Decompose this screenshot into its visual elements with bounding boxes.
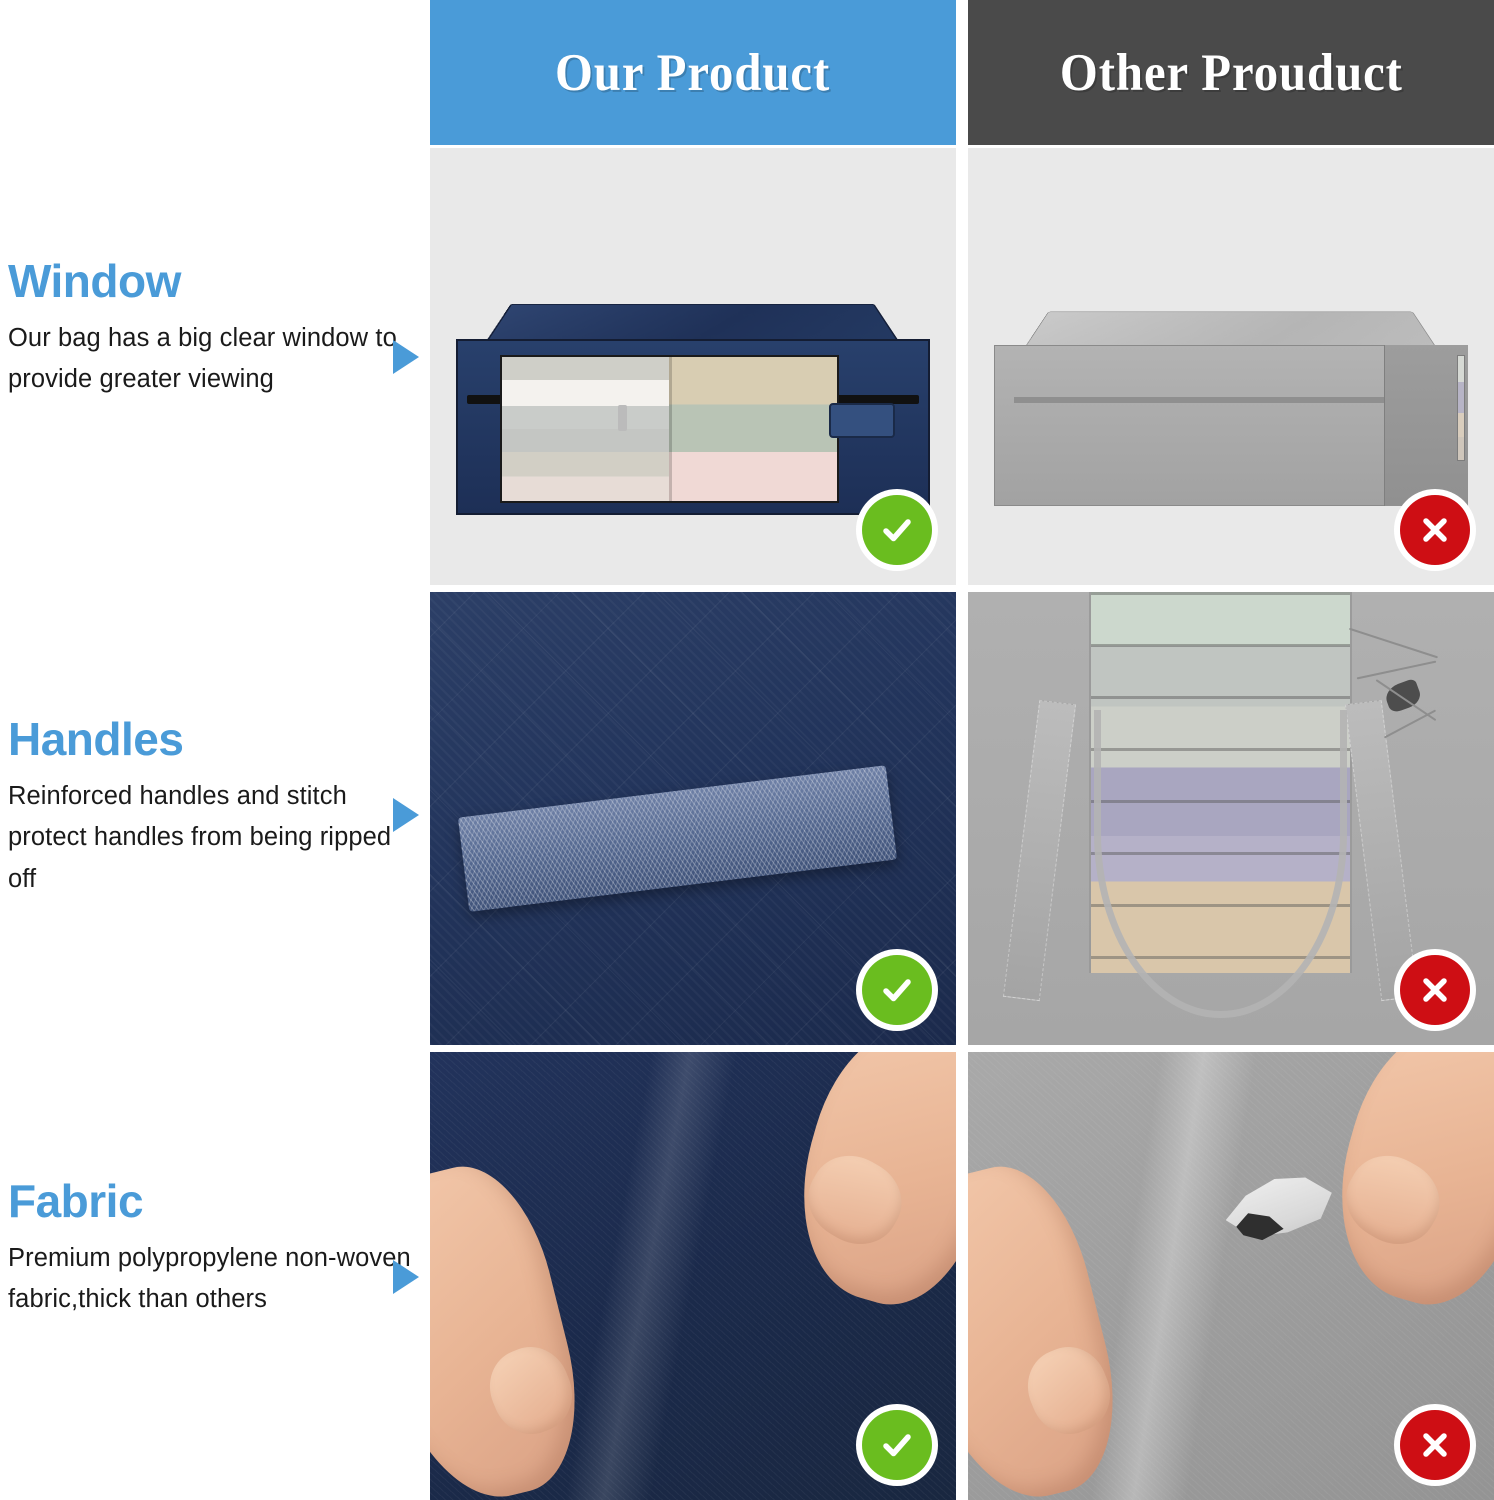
comparison-infographic: Window Our bag has a big clear window to… [0,0,1494,1500]
comparison-row-handles [430,592,1494,1045]
status-badge-check [856,949,938,1031]
triangle-right-icon [393,1260,419,1294]
our-product-fabric-photo [430,1052,956,1500]
feature-description-window: Our bag has a big clear window to provid… [8,318,426,401]
status-badge-cross [1394,489,1476,571]
fabric-tear [1226,1173,1336,1249]
feature-block-fabric: Fabric Premium polypropylene non-woven f… [8,1178,426,1321]
feature-title-fabric: Fabric [8,1178,426,1224]
hand-right [774,1052,956,1322]
triangle-right-icon [393,340,419,374]
feature-description-fabric: Premium polypropylene non-woven fabric,t… [8,1238,426,1321]
header-our-product: Our Product [430,0,956,145]
our-product-window-photo [430,148,956,585]
header-other-product: Other Prouduct [968,0,1494,145]
column-headers: Our Product Other Prouduct [430,0,1494,145]
hand-right [1312,1052,1494,1322]
comparison-row-window [430,148,1494,585]
header-our-product-label: Our Product [555,43,830,103]
cross-icon [1400,955,1470,1025]
feature-block-handles: Handles Reinforced handles and stitch pr… [8,716,426,900]
cross-icon [1400,1410,1470,1480]
feature-title-handles: Handles [8,716,426,762]
feature-title-window: Window [8,258,426,304]
navy-storage-bag [446,253,940,515]
grey-storage-bag [984,262,1478,507]
frayed-threads [1347,628,1463,764]
feature-label-column: Window Our bag has a big clear window to… [0,0,430,1500]
check-icon [862,495,932,565]
feature-description-handles: Reinforced handles and stitch protect ha… [8,776,426,900]
comparison-row-fabric [430,1052,1494,1500]
header-other-product-label: Other Prouduct [1060,43,1403,103]
other-product-handle-photo [968,592,1494,1045]
cross-icon [1400,495,1470,565]
feature-block-window: Window Our bag has a big clear window to… [8,258,426,401]
status-badge-check [856,489,938,571]
reinforced-handle-strap [457,765,897,912]
status-badge-check [856,1404,938,1486]
our-product-handle-photo [430,592,956,1045]
other-product-fabric-photo [968,1052,1494,1500]
status-badge-cross [1394,1404,1476,1486]
status-badge-cross [1394,949,1476,1031]
hand-left [430,1152,599,1500]
comparison-grid: Our Product Other Prouduct [430,0,1494,1500]
triangle-right-icon [393,798,419,832]
check-icon [862,955,932,1025]
other-product-window-photo [968,148,1494,585]
check-icon [862,1410,932,1480]
